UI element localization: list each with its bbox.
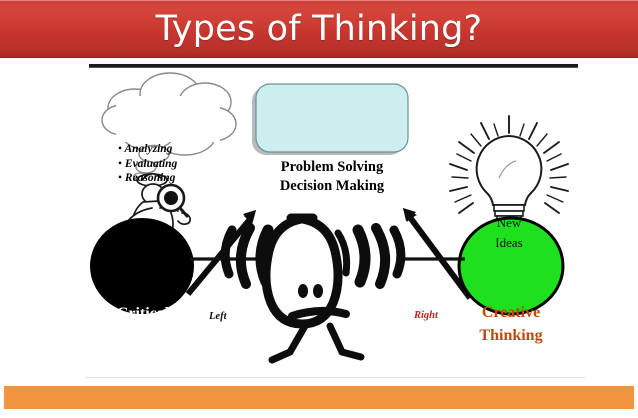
slide-header: Types of Thinking? [0, 0, 638, 58]
thought-bubble-items: • Analyzing • Evaluating • Reasoning [118, 142, 228, 186]
creative-line-1: Creative [461, 301, 561, 324]
slide-canvas: Types of Thinking? [0, 0, 638, 418]
critical-line-1: Critical [95, 303, 191, 325]
critical-thinking-circle [90, 218, 194, 314]
brain-label-left: Left [209, 311, 227, 322]
creative-thinking-label: Creative Thinking [461, 301, 561, 347]
creative-line-2: Thinking [461, 324, 561, 347]
footer-divider [85, 377, 585, 378]
critical-thinking-label: Critical Thinking [95, 303, 191, 347]
problem-solving-box-label: Problem Solving Decision Making [261, 158, 403, 196]
page-title: Types of Thinking? [0, 0, 638, 58]
bulb-line-ideas: Ideas [474, 233, 544, 253]
problem-solving-box-shape [252, 84, 408, 155]
box-line-decision-making: Decision Making [261, 177, 403, 196]
bullet-glyph: • [118, 143, 122, 155]
bulb-line-new: New [474, 213, 544, 233]
diagram-area: • Analyzing • Evaluating • Reasoning Pro… [0, 58, 638, 388]
box-line-problem-solving: Problem Solving [261, 158, 403, 177]
thought-item-reasoning: Reasoning [125, 172, 176, 184]
lightbulb-label: New Ideas [474, 213, 544, 253]
bullet-glyph: • [118, 158, 122, 170]
thinking-head-character [225, 218, 401, 360]
bullet-glyph: • [118, 172, 122, 184]
critical-line-2: Thinking [95, 325, 191, 347]
brain-label-right: Right [414, 310, 438, 321]
lightbulb-shape [450, 116, 568, 226]
footer-bar [4, 386, 634, 409]
thought-item-evaluating: Evaluating [125, 158, 177, 170]
footer-margin [0, 409, 638, 418]
thought-item-analyzing: Analyzing [124, 143, 172, 155]
